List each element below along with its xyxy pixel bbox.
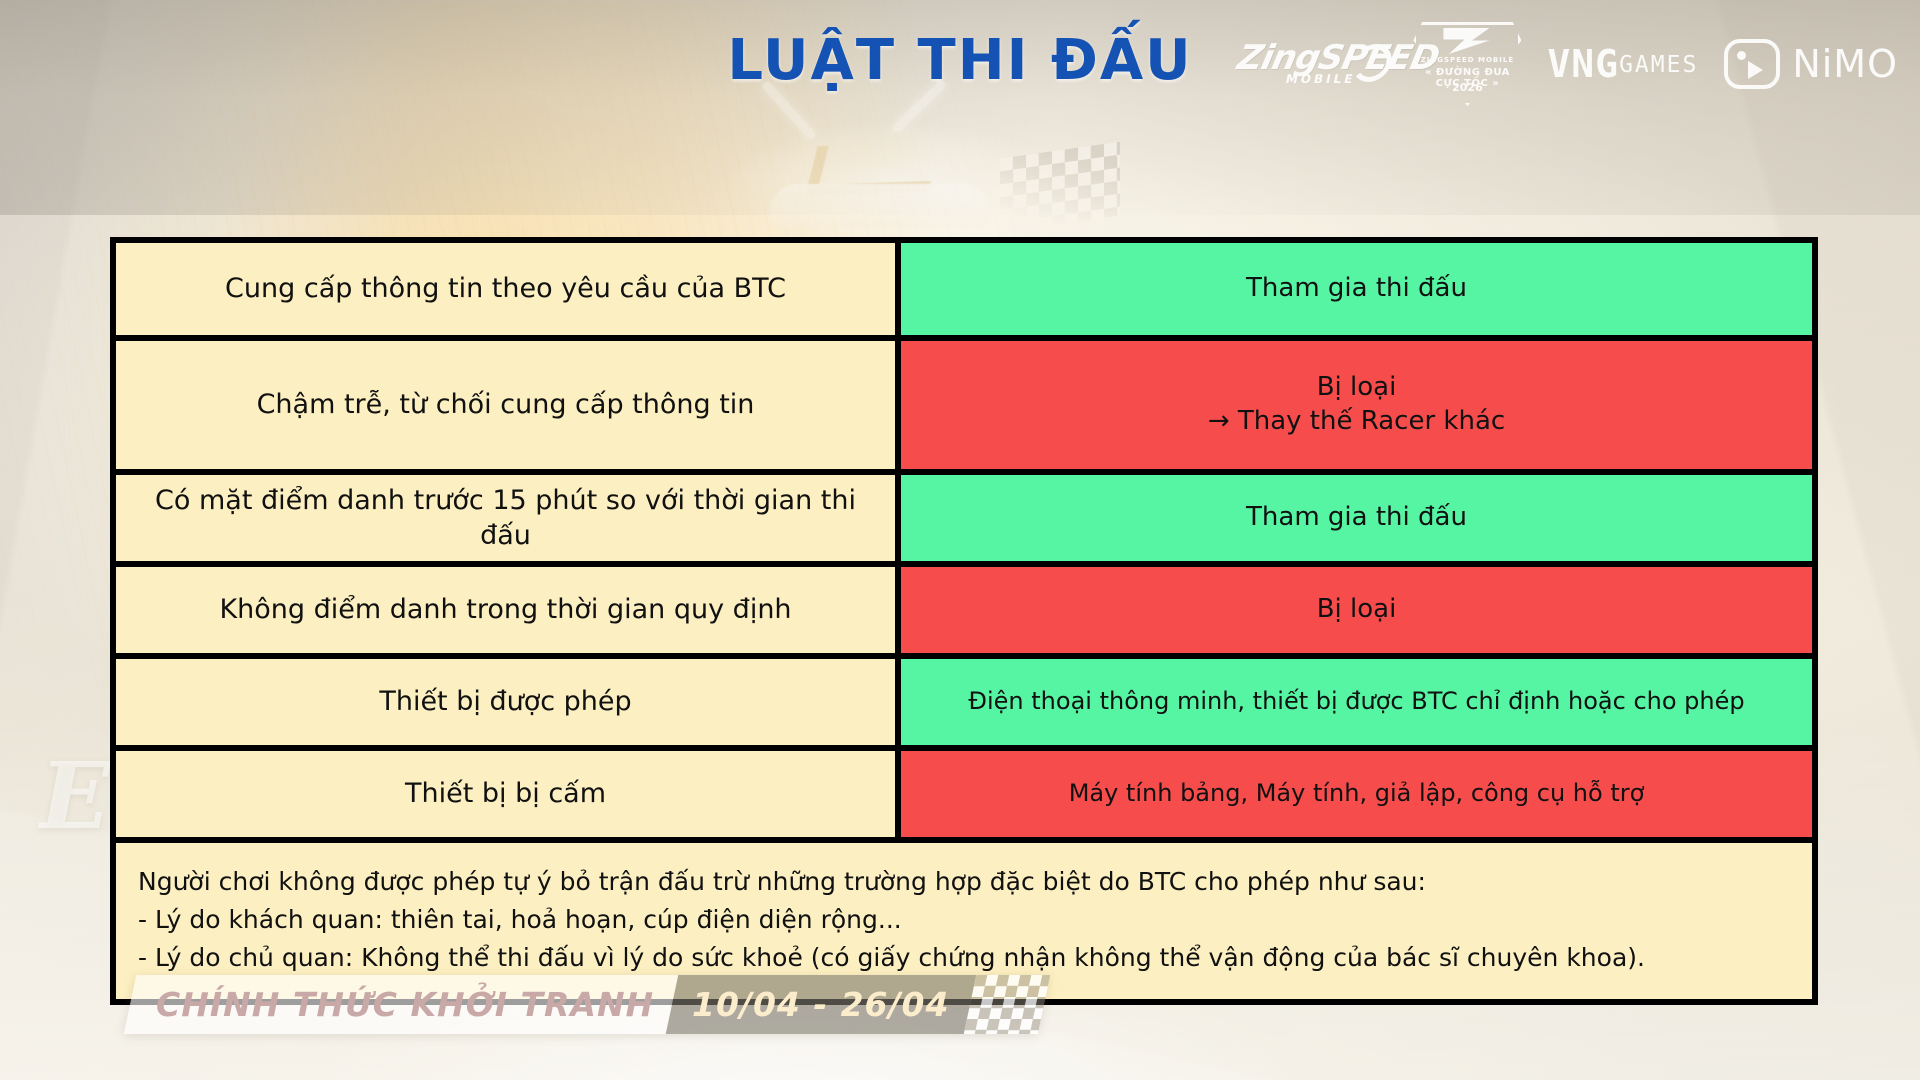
nimo-play-icon <box>1724 39 1780 89</box>
note-line-1: Người chơi không được phép tự ý bỏ trận … <box>138 863 1790 901</box>
rule-result-cell: Điện thoại thông minh, thiết bị được BTC… <box>901 659 1812 745</box>
rule-result-cell: Tham gia thi đấu <box>901 475 1812 561</box>
zingspeed-sub-label: MOBILE <box>1285 72 1358 86</box>
crest-top-label: ZINGSPEED MOBILE <box>1413 56 1521 64</box>
rule-result-cell: Tham gia thi đấu <box>901 243 1812 335</box>
rule-condition-cell: Không điểm danh trong thời gian quy định <box>116 567 895 653</box>
note-line-2: - Lý do khách quan: thiên tai, hoả hoạn,… <box>138 901 1790 939</box>
banner-date-box: 10/04 - 26/04 <box>666 975 976 1034</box>
rules-table: Cung cấp thông tin theo yêu cầu của BTC … <box>110 237 1818 1005</box>
tournament-crest-logo: ZINGSPEED MOBILE « ĐƯỜNG ĐUA CỰC TỐC » 2… <box>1413 22 1521 106</box>
vng-wordmark: VNG <box>1547 45 1619 83</box>
slide-root: E LUẬT THI ĐẤU ZingSPEED MOBILE ZINGSPEE… <box>0 0 1920 1080</box>
table-row: Không điểm danh trong thời gian quy định… <box>116 567 1812 653</box>
banner-date-range: 10/04 - 26/04 <box>692 985 949 1024</box>
nimo-logo: NiMO <box>1724 39 1898 89</box>
banner-label: CHÍNH THỨC KHỞI TRANH <box>156 985 654 1024</box>
vng-games-logo: VNG GAMES <box>1547 45 1698 83</box>
car-body <box>770 184 990 228</box>
rule-condition-cell: Có mặt điểm danh trước 15 phút so với th… <box>116 475 895 561</box>
rule-result-line-1: Bị loại <box>1208 371 1505 405</box>
vng-games-label: GAMES <box>1619 54 1698 77</box>
logo-row: ZingSPEED MOBILE ZINGSPEED MOBILE « ĐƯỜN… <box>1237 22 1898 106</box>
table-row: Thiết bị được phép Điện thoại thông minh… <box>116 659 1812 745</box>
rule-condition-cell: Chậm trễ, từ chối cung cấp thông tin <box>116 341 895 469</box>
bottom-banner: CHÍNH THỨC KHỞI TRANH 10/04 - 26/04 <box>124 975 1050 1034</box>
rule-result-cell: Máy tính bảng, Máy tính, giả lập, công c… <box>901 751 1812 837</box>
rule-condition-cell: Thiết bị bị cấm <box>116 751 895 837</box>
rule-condition-cell: Thiết bị được phép <box>116 659 895 745</box>
zingspeed-mobile-logo: ZingSPEED MOBILE <box>1230 28 1395 100</box>
rule-condition-cell: Cung cấp thông tin theo yêu cầu của BTC <box>116 243 895 335</box>
banner-label-box: CHÍNH THỨC KHỞI TRANH <box>124 975 679 1034</box>
table-row: Chậm trễ, từ chối cung cấp thông tin Bị … <box>116 341 1812 469</box>
banner-checkered-flag-icon <box>963 975 1050 1034</box>
note-line-3: - Lý do chủ quan: Không thể thi đấu vì l… <box>138 939 1790 977</box>
crest-year-label: 2026 <box>1413 81 1521 94</box>
table-row: Cung cấp thông tin theo yêu cầu của BTC … <box>116 243 1812 335</box>
rule-result-cell: Bị loại <box>901 567 1812 653</box>
nimo-wordmark: NiMO <box>1792 42 1898 86</box>
background-watermark-letter: E <box>40 742 112 850</box>
rule-result-line-2: → Thay thế Racer khác <box>1208 405 1505 439</box>
rule-result-cell: Bị loại → Thay thế Racer khác <box>901 341 1812 469</box>
table-row: Thiết bị bị cấm Máy tính bảng, Máy tính,… <box>116 751 1812 837</box>
table-row: Có mặt điểm danh trước 15 phút so với th… <box>116 475 1812 561</box>
slide-header: LUẬT THI ĐẤU ZingSPEED MOBILE ZINGSPEED … <box>0 0 1920 130</box>
